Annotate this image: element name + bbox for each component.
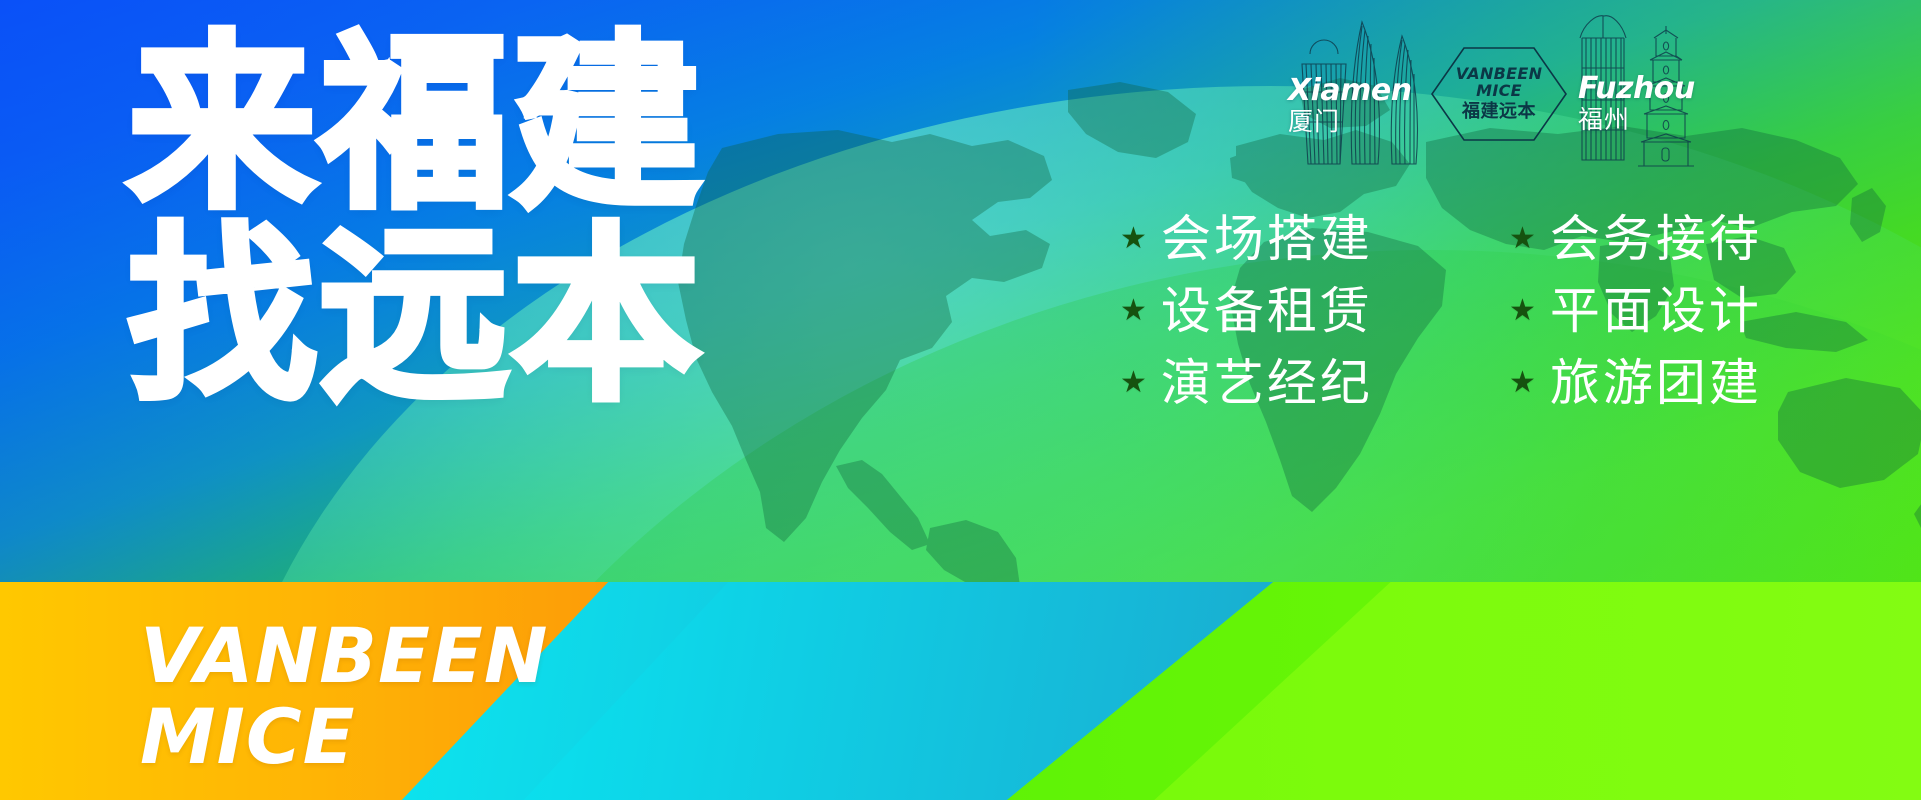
badge-cn: 福建远本 — [1462, 101, 1536, 122]
service-item-1[interactable]: ★ 会务接待 — [1509, 212, 1880, 266]
city-name-en: Xiamen — [1288, 76, 1412, 106]
bottom-brand-strip: VANBEEN MICE — [0, 582, 1921, 800]
city-name-cn: 厦门 — [1288, 108, 1412, 136]
city-badge-cluster: Xiamen 厦门 Fuzhou 福州 VANBEEN MICE 福建远本 — [1290, 6, 1710, 176]
brand-line-2: MICE — [140, 699, 548, 774]
service-item-4[interactable]: ★ 演艺经纪 — [1120, 356, 1491, 410]
service-item-5[interactable]: ★ 旅游团建 — [1509, 356, 1880, 410]
service-list: ★ 会场搭建 ★ 会务接待 ★ 设备租赁 ★ 平面设计 ★ 演艺经纪 ★ 旅游团… — [1120, 212, 1880, 410]
city-label-xiamen: Xiamen 厦门 — [1288, 76, 1412, 136]
service-label: 旅游团建 — [1550, 356, 1762, 410]
star-icon: ★ — [1509, 368, 1536, 398]
badge-en-line-2: MICE — [1476, 83, 1522, 100]
banner-stage: 来福建 找远本 ★ 会场搭建 ★ 会务接待 ★ 设备租赁 ★ 平面设计 ★ — [0, 0, 1921, 582]
vanbeen-hexagon-badge[interactable]: VANBEEN MICE 福建远本 — [1430, 46, 1568, 142]
star-icon: ★ — [1120, 368, 1147, 398]
service-item-3[interactable]: ★ 平面设计 — [1509, 284, 1880, 338]
headline-line-2: 找远本 — [128, 226, 768, 408]
promo-banner: 来福建 找远本 ★ 会场搭建 ★ 会务接待 ★ 设备租赁 ★ 平面设计 ★ — [0, 0, 1921, 800]
service-label: 演艺经纪 — [1161, 356, 1373, 410]
brand-line-1: VANBEEN — [140, 618, 548, 693]
service-label: 会场搭建 — [1161, 212, 1373, 266]
headline: 来福建 找远本 — [128, 34, 768, 409]
service-label: 设备租赁 — [1161, 284, 1373, 338]
headline-line-1: 来福建 — [128, 34, 768, 216]
city-label-fuzhou: Fuzhou 福州 — [1578, 74, 1695, 134]
city-name-cn: 福州 — [1578, 106, 1695, 134]
star-icon: ★ — [1509, 296, 1536, 326]
brand-wordmark: VANBEEN MICE — [140, 618, 548, 774]
service-label: 平面设计 — [1550, 284, 1762, 338]
star-icon: ★ — [1120, 296, 1147, 326]
service-label: 会务接待 — [1550, 212, 1762, 266]
star-icon: ★ — [1120, 224, 1147, 254]
star-icon: ★ — [1509, 224, 1536, 254]
service-item-2[interactable]: ★ 设备租赁 — [1120, 284, 1491, 338]
service-item-0[interactable]: ★ 会场搭建 — [1120, 212, 1491, 266]
city-name-en: Fuzhou — [1578, 74, 1695, 104]
